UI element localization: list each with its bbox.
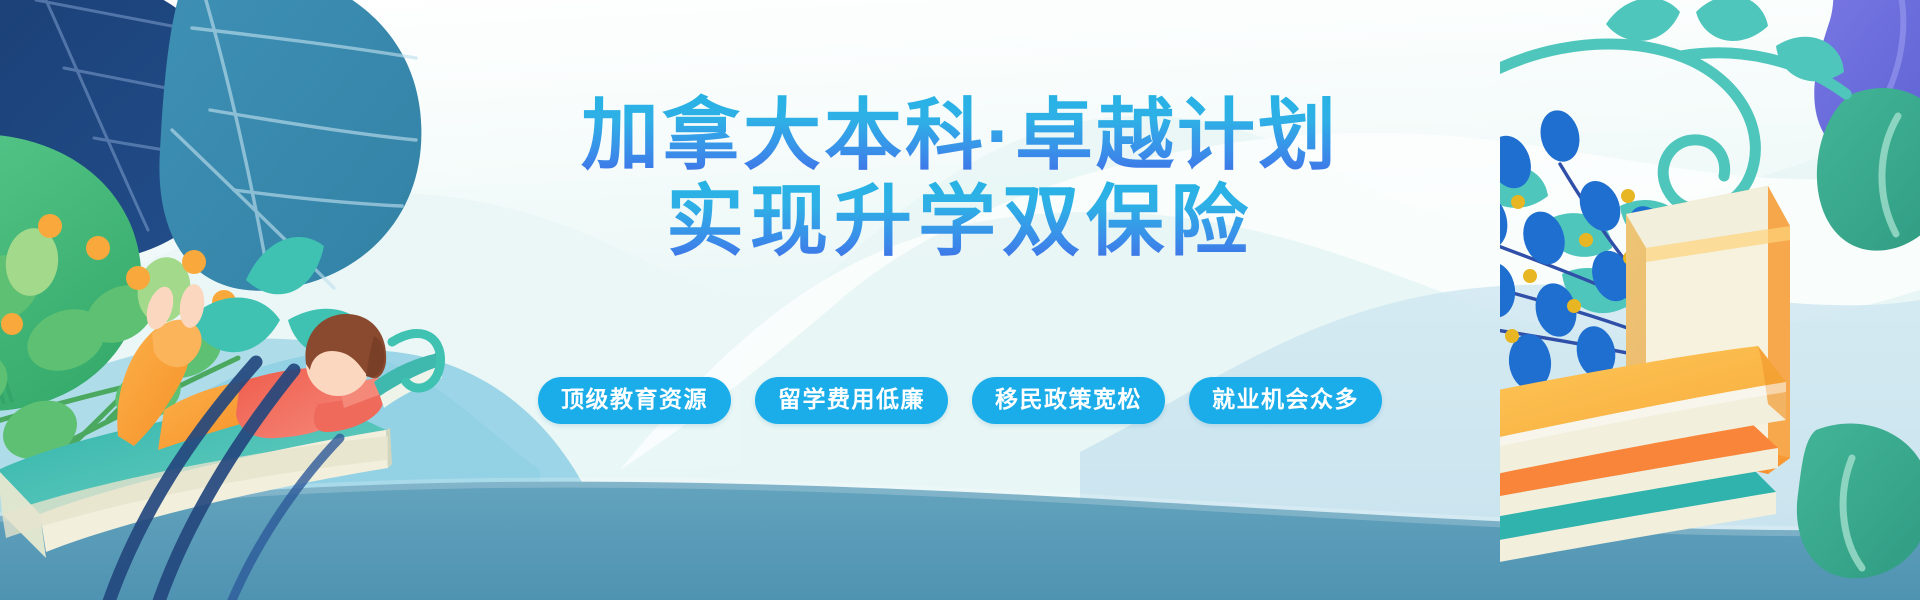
feature-pill-top-education-resources[interactable]: 顶级教育资源 [538,377,731,424]
promo-banner: 加拿大本科·卓越计划 实现升学双保险 顶级教育资源 留学费用低廉 移民政策宽松 … [0,0,1920,600]
green-blob-lower [1797,424,1920,579]
right-illustration-books [1500,0,1920,600]
branch-stems [0,346,238,530]
feature-pill-abundant-job-opportunities[interactable]: 就业机会众多 [1189,377,1382,424]
girl-reading [117,283,442,450]
headline-line-1: 加拿大本科·卓越计划 [0,92,1920,178]
left-illustration-girl-reading [0,0,458,600]
pale-blue-wave-right [1080,284,1920,600]
headline-line-2: 实现升学双保险 [0,178,1920,264]
girl-hair [305,314,386,378]
background-waves [0,0,1920,600]
headline-block: 加拿大本科·卓越计划 实现升学双保险 [0,92,1920,264]
navy-swoosh-2 [228,438,340,600]
bottom-band [0,482,1920,600]
feature-pill-low-tuition-cost[interactable]: 留学费用低廉 [755,377,948,424]
girl-feet [142,283,207,333]
feature-pill-lenient-immigration-policy[interactable]: 移民政策宽松 [972,377,1165,424]
bottom-band-edge [0,478,1920,536]
feature-pill-row: 顶级教育资源 留学费用低廉 移民政策宽松 就业机会众多 [0,377,1920,424]
